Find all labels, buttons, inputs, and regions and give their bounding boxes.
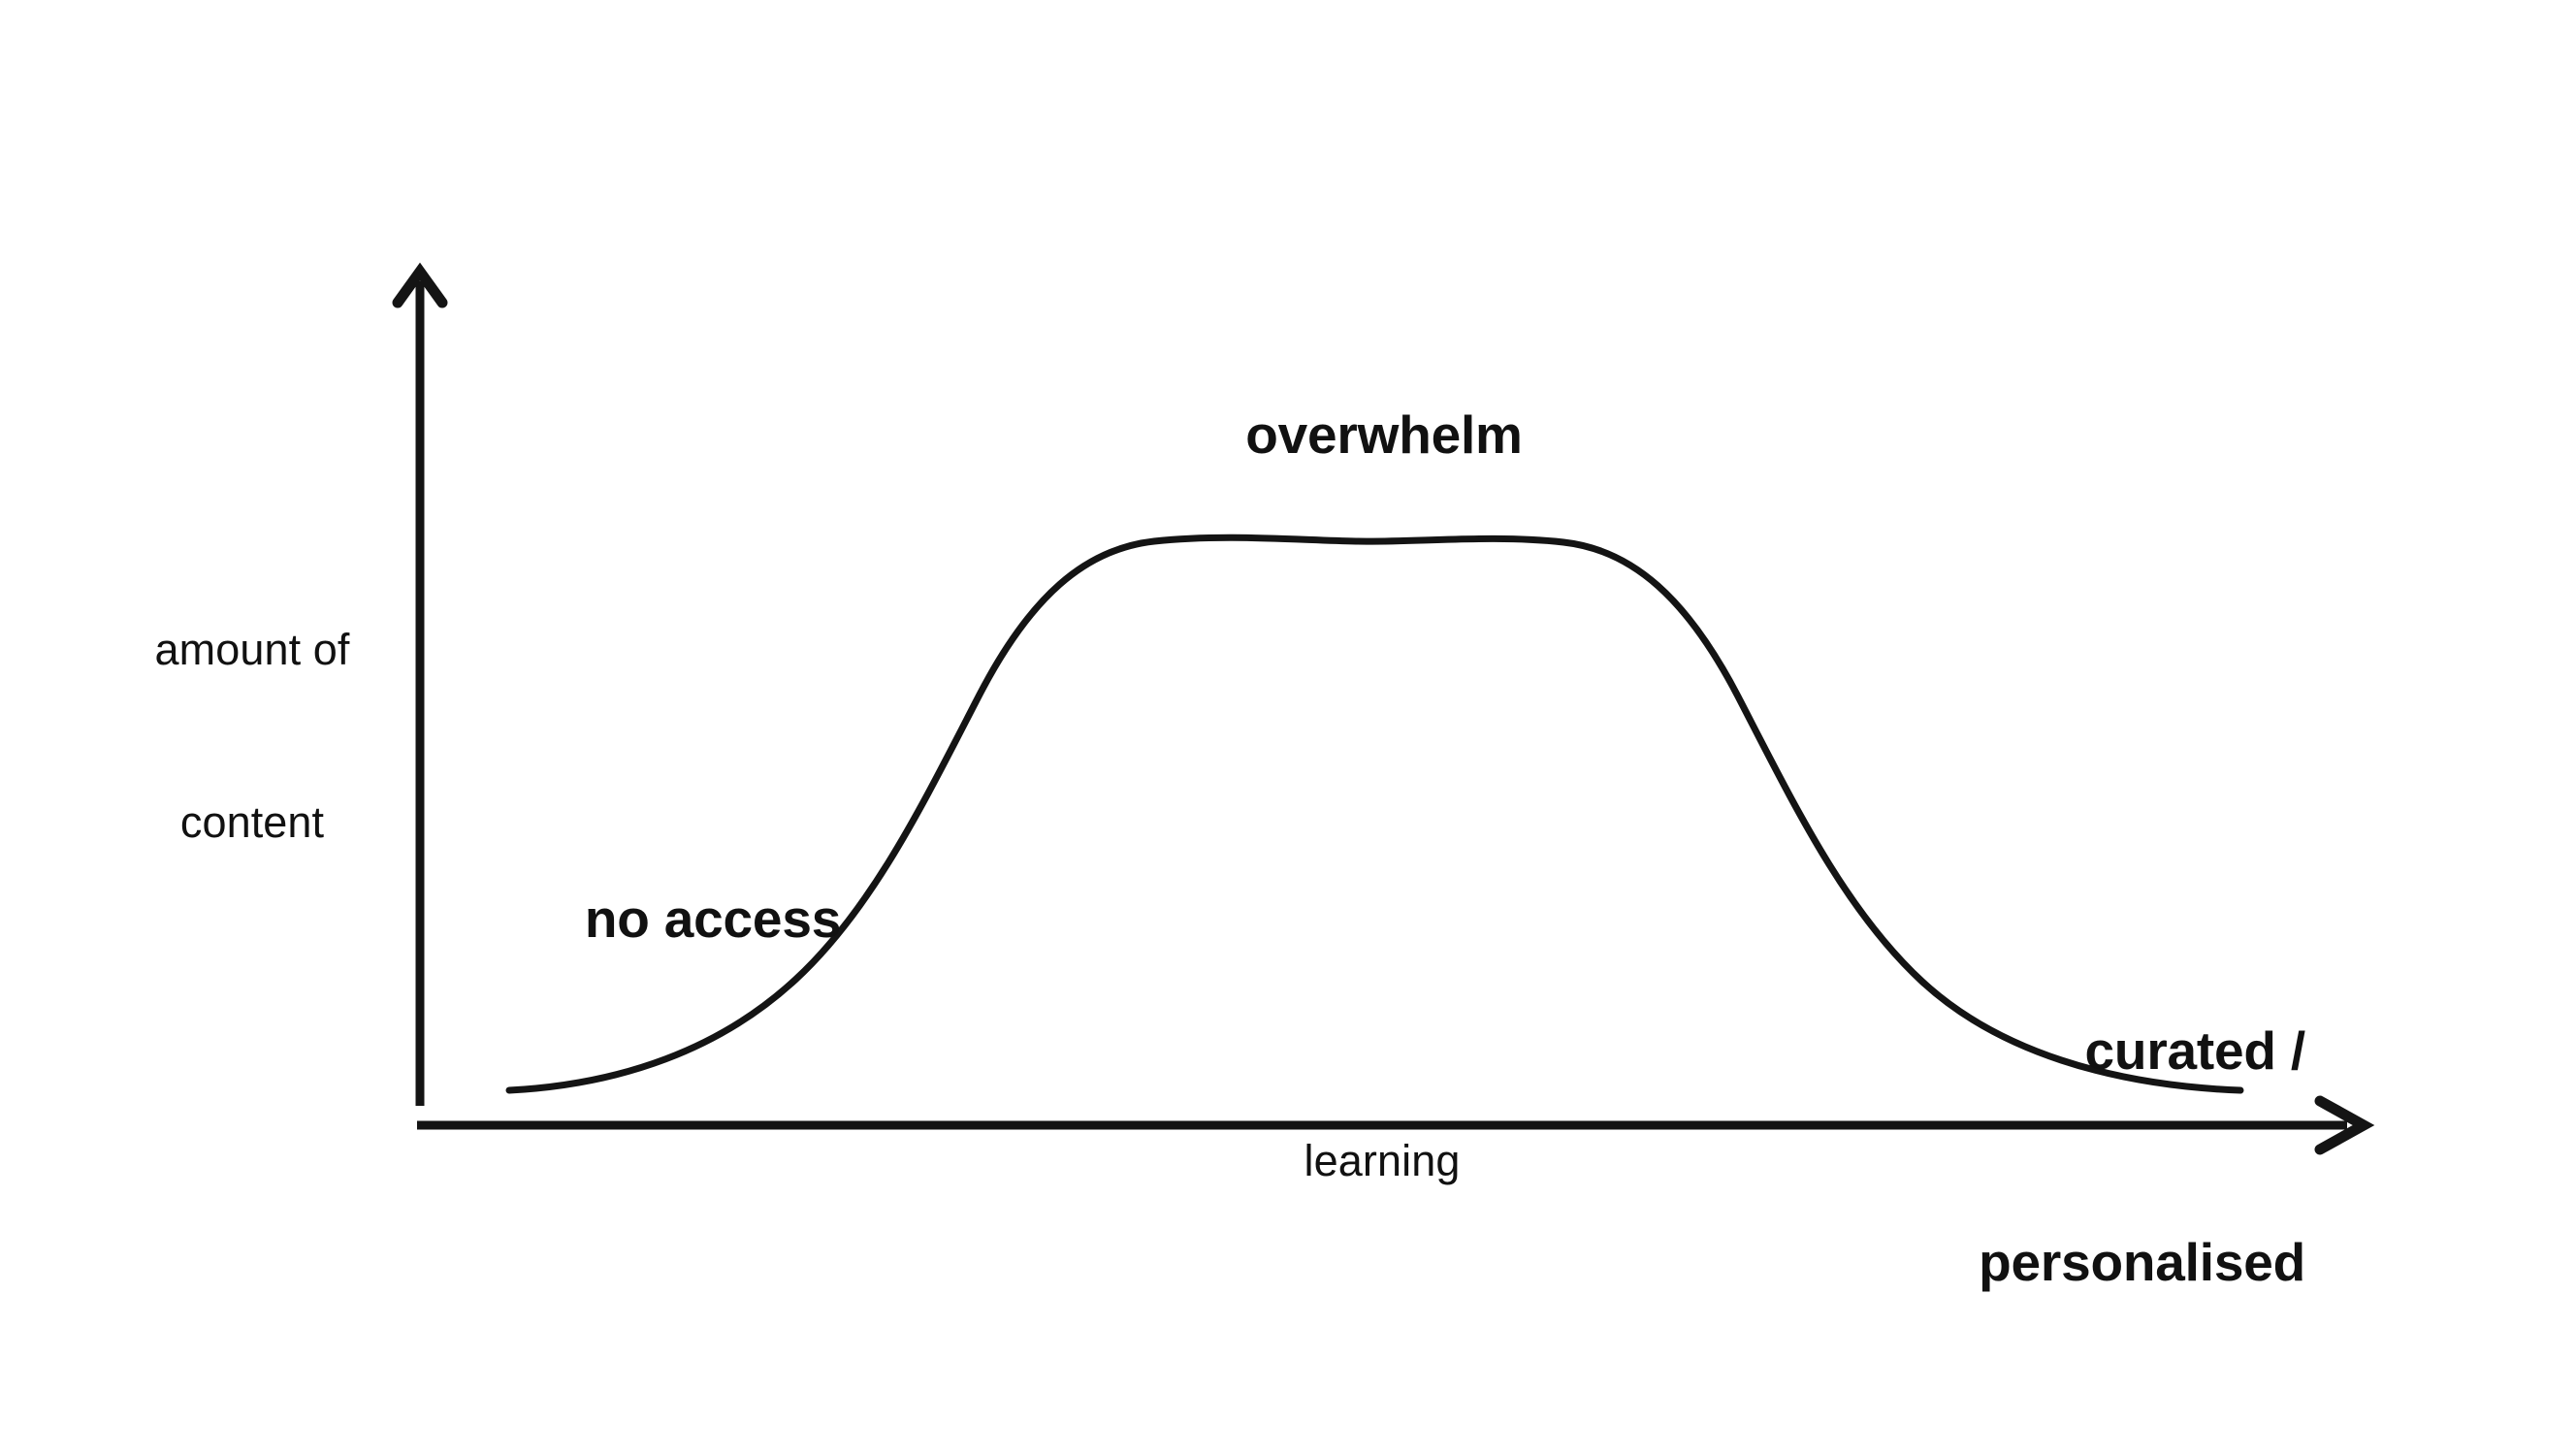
annotation-no-access: no access	[529, 884, 897, 954]
annotation-curated-line-1: curated /	[1819, 1016, 2305, 1086]
figure-canvas: amount of content learning overwhelm no …	[0, 0, 2576, 1456]
y-axis-label-line-2: content	[97, 793, 407, 851]
annotation-curated-personalised: curated / personalised	[1819, 875, 2305, 1439]
annotation-overwhelm: overwhelm	[1142, 400, 1626, 470]
annotation-curated-line-2: personalised	[1819, 1227, 2305, 1298]
y-axis-label-line-1: amount of	[97, 621, 407, 678]
y-axis-label: amount of content	[97, 505, 407, 966]
x-axis-label: learning	[1169, 1132, 1595, 1189]
